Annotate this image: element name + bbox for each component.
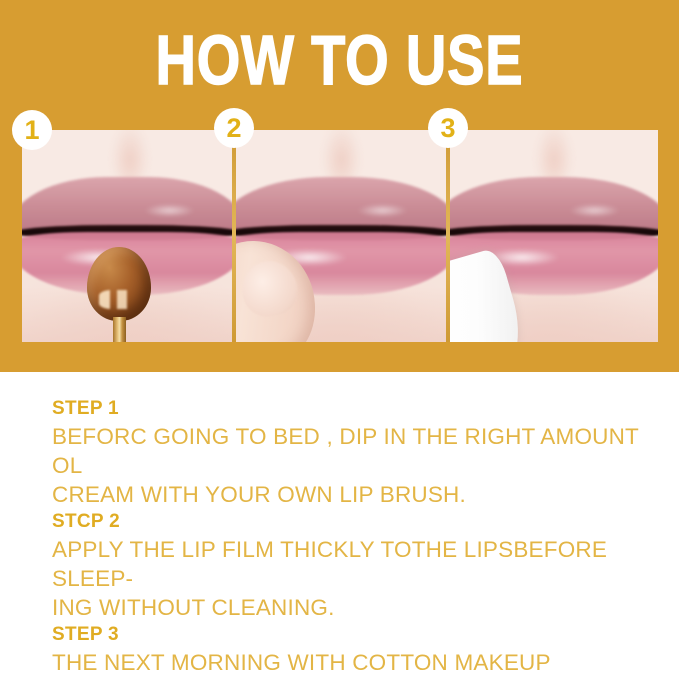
- applicator-bead-icon: [87, 247, 151, 321]
- applicator-handle-icon: [113, 317, 126, 342]
- step-body-2: APPLY THE LIP FILM THICKLY TOTHE LIPSBEF…: [52, 535, 652, 622]
- step-body-3: THE NEXT MORNING WITH COTTON MAKEUP RESI…: [52, 648, 652, 679]
- step-heading-2: STCP 2: [52, 509, 652, 535]
- lip-gloss-highlight-secondary: [569, 204, 620, 217]
- step-heading-3: STEP 3: [52, 622, 652, 648]
- step-body-1: BEFORC GOING TO BED , DIP IN THE RIGHT A…: [52, 422, 652, 509]
- step-badge-1: 1: [12, 110, 52, 150]
- step-heading-1: STEP 1: [52, 396, 652, 422]
- steps-list: STEP 1 BEFORC GOING TO BED , DIP IN THE …: [52, 396, 652, 679]
- lip-gloss-highlight-secondary: [144, 204, 195, 217]
- step-badge-2: 2: [214, 108, 254, 148]
- step-item-2: STCP 2 APPLY THE LIP FILM THICKLY TOTHE …: [52, 509, 652, 622]
- step-badge-3: 3: [428, 108, 468, 148]
- photo-panel-step-1: [22, 130, 233, 342]
- panel-divider-1: [232, 130, 236, 342]
- photo-strip: [22, 130, 658, 342]
- page-title: HOW TO USE: [68, 26, 611, 94]
- panel-divider-2: [446, 130, 450, 342]
- how-to-use-infographic: HOW TO USE: [0, 0, 679, 679]
- step-item-1: STEP 1 BEFORC GOING TO BED , DIP IN THE …: [52, 396, 652, 509]
- step-item-3: STEP 3 THE NEXT MORNING WITH COTTON MAKE…: [52, 622, 652, 679]
- photo-panel-step-3: [446, 130, 658, 342]
- lip-gloss-highlight-secondary: [357, 204, 408, 217]
- photo-panel-step-2: [233, 130, 446, 342]
